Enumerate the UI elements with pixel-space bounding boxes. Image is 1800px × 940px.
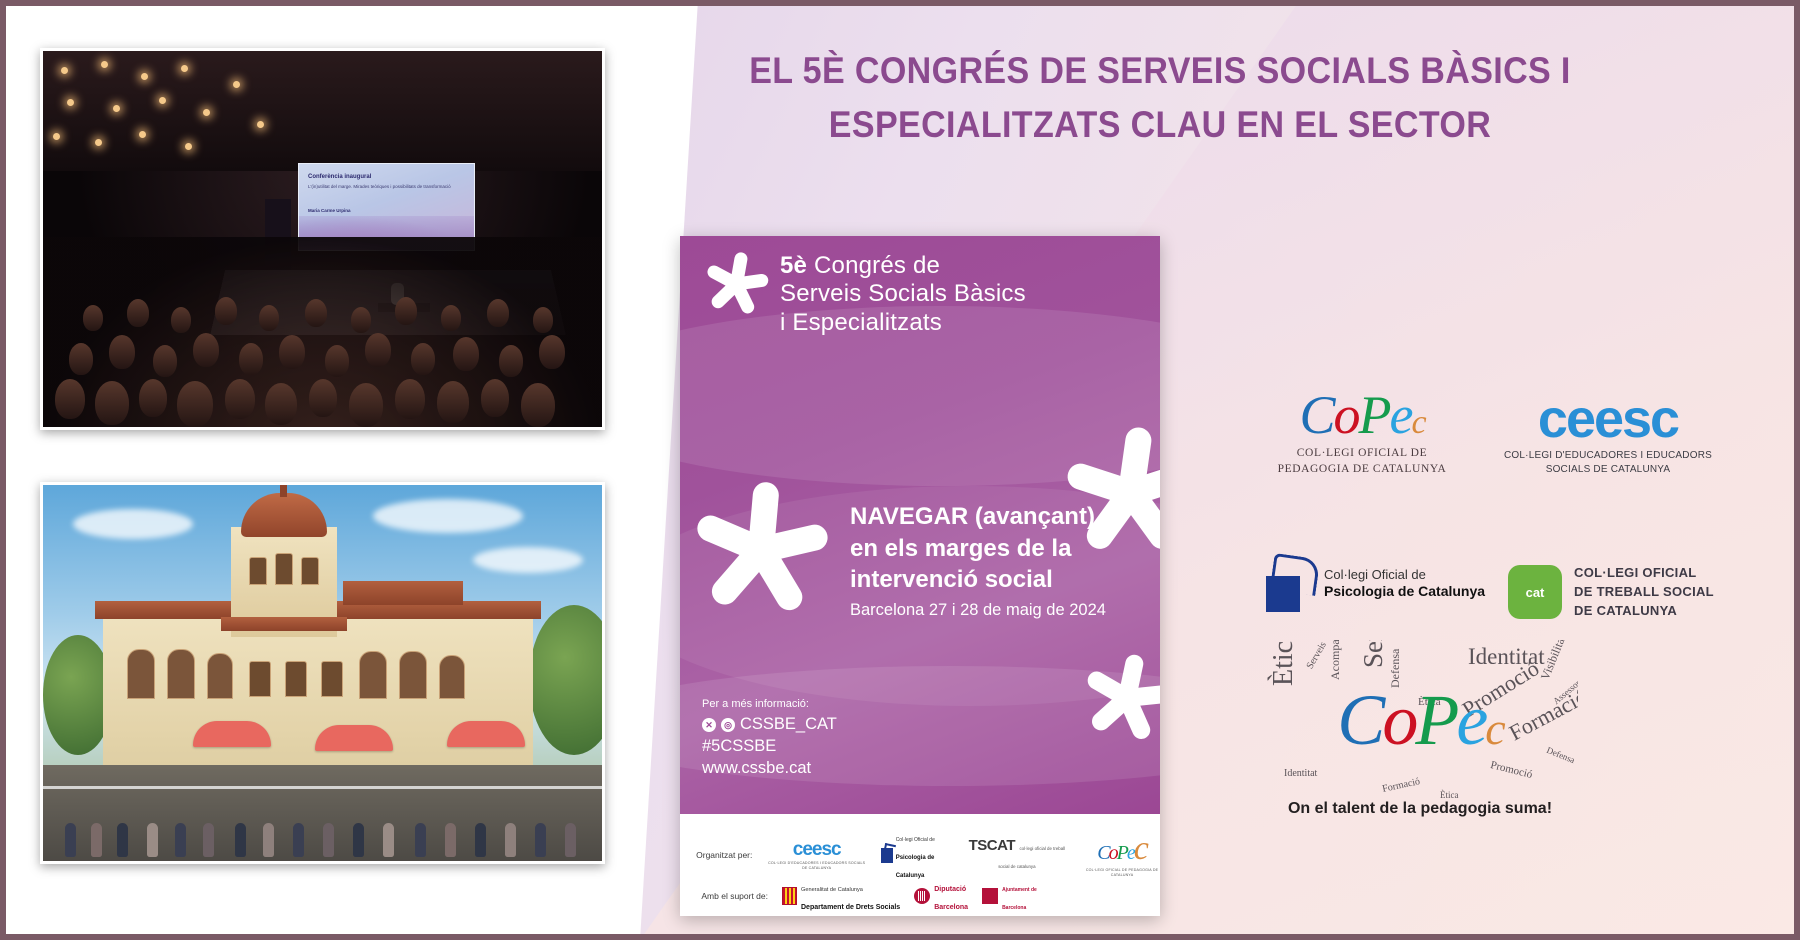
copec-mark: CoPec: [1262, 388, 1462, 442]
tscat-caption-line2: DE TREBALL SOCIAL: [1574, 583, 1714, 602]
diputacio-seal-icon: [914, 888, 930, 904]
logo-tscat-mark: TSCAT: [969, 837, 1015, 854]
slogan-line3: intervenció social: [850, 564, 1095, 596]
cloud-word: Promoció: [1489, 759, 1533, 781]
contact-handle-row[interactable]: ✕ ◎ CSSBE_CAT: [702, 714, 837, 736]
contact-label: Per a més informació:: [702, 698, 837, 710]
poster-brand-text: 5è Congrés de Serveis Socials Bàsics i E…: [780, 252, 1026, 337]
screen-title: Conferència inaugural: [308, 174, 371, 180]
tscat-mark-icon: cat: [1508, 565, 1562, 619]
logo-copc-right: Col·legi Oficial de Psicologia de Catalu…: [1262, 556, 1492, 612]
brand-line1: Congrés de: [814, 252, 940, 279]
congress-poster: 5è Congrés de Serveis Socials Bàsics i E…: [680, 236, 1160, 916]
supporters-row: Amb el suport de: Generalitat de Catalun…: [694, 878, 1037, 914]
supporters-label: Amb el suport de:: [694, 891, 768, 901]
ceiling-lights: [43, 51, 602, 171]
fence: [43, 786, 602, 789]
cloud-word: Ètica: [1440, 790, 1459, 800]
cloud-letter-c1: C: [1337, 680, 1382, 760]
cloud-letter-c2: c: [1485, 703, 1502, 754]
organizers-row: Organitzat per: ceesc COL·LEGI D'EDUCADO…: [694, 828, 1160, 882]
logo-diputacio: Diputació Barcelona: [914, 878, 968, 914]
venue-scene: [43, 485, 602, 861]
tscat-caption-line1: COL·LEGI OFICIAL: [1574, 564, 1714, 583]
copec-cloud-mark: CoPec: [1270, 684, 1570, 756]
tscat-caption-line3: DE CATALUNYA: [1574, 602, 1714, 621]
logo-ajuntament: Ajuntament de Barcelona: [982, 878, 1037, 914]
poster-date: Barcelona 27 i 28 de maig de 2024: [850, 601, 1106, 620]
audience: [43, 237, 602, 427]
auditorium-photo: Conferència inaugural L'(in)utilitat del…: [40, 48, 605, 430]
cloud-letter-e: e: [1456, 680, 1485, 760]
copec-letter-o: o: [1333, 385, 1358, 445]
logo-copec-footer: CoPec COL·LEGI OFICIAL DE PEDAGOGIA DE C…: [1084, 832, 1160, 878]
umbrella: [447, 721, 525, 747]
logo-copec-mark: CoPec: [1097, 832, 1147, 866]
poster-slogan: NAVEGAR (avançant) en els marges de la i…: [850, 501, 1095, 596]
venue-photo: [40, 482, 605, 864]
logo-ceesc-right: ceesc COL·LEGI D'EDUCADORES I EDUCADORS …: [1488, 392, 1728, 477]
logo-tscat-right: cat COL·LEGI OFICIAL DE TREBALL SOCIAL D…: [1508, 564, 1758, 621]
logo-copc: Col·legi Oficial de Psicologia de Catalu…: [881, 828, 950, 882]
cloud-letter-p: P: [1415, 680, 1456, 760]
x-icon[interactable]: ✕: [702, 718, 716, 732]
ajuntament-crest-icon: [982, 888, 998, 904]
page-title: EL 5È CONGRÉS DE SERVEIS SOCIALS BÀSICS …: [737, 44, 1583, 151]
logo-copc-line1: Col·legi Oficial de: [896, 837, 935, 843]
copec-letter-e: e: [1389, 385, 1411, 445]
contact-hashtag: #5CSSBE: [702, 736, 837, 758]
brand-asterisk-icon: [708, 254, 770, 316]
cloud-word: Ètica: [1268, 640, 1300, 686]
logo-tscat: TSCAT col·legi oficial de treball social…: [964, 837, 1071, 873]
cloud-letter-o: o: [1382, 680, 1415, 760]
brand-number: 5è: [780, 252, 807, 279]
slogan-line1: NAVEGAR (avançant): [850, 501, 1095, 533]
logo-generalitat-line2: Departament de Drets Socials: [801, 904, 900, 911]
asterisk-icon-left: [690, 486, 840, 636]
screen-speaker: Maria Carme Urpina: [308, 208, 351, 213]
brand-line2: Serveis Socials Bàsics: [780, 280, 1026, 308]
umbrella: [315, 725, 393, 751]
copc-caption-line1: Col·legi Oficial de: [1324, 567, 1485, 583]
ceesc-caption-line1: COL·LEGI D'EDUCADORES I EDUCADORS: [1488, 449, 1728, 463]
logo-copec-caption: COL·LEGI OFICIAL DE PEDAGOGIA DE CATALUN…: [1084, 868, 1160, 878]
generalitat-shield-icon: [782, 887, 797, 905]
instagram-icon[interactable]: ◎: [721, 718, 735, 732]
copc-caption-line2: Psicologia de Catalunya: [1324, 583, 1485, 601]
cloud-word: Serveis: [1305, 640, 1329, 671]
logo-ceesc: ceesc COL·LEGI D'EDUCADORES I EDUCADORS …: [766, 840, 867, 871]
slogan-line2: en els marges de la: [850, 533, 1095, 565]
logo-diputacio-line1: Diputació: [934, 886, 966, 893]
auditorium-scene: Conferència inaugural L'(in)utilitat del…: [43, 51, 602, 427]
logo-ceesc-mark: ceesc: [793, 840, 841, 859]
page-title-line1: EL 5È CONGRÉS DE SERVEIS SOCIALS BÀSICS …: [737, 44, 1583, 98]
cloud-word: Identitat: [1284, 768, 1317, 779]
page-title-line2: ESPECIALITZATS CLAU EN EL SECTOR: [737, 98, 1583, 152]
cloud-word: Formació: [1381, 776, 1421, 795]
plaza-ground: [43, 765, 602, 861]
copc-mark-icon: [881, 848, 893, 863]
tscat-caption: COL·LEGI OFICIAL DE TREBALL SOCIAL DE CA…: [1574, 564, 1714, 621]
logo-ceesc-caption: COL·LEGI D'EDUCADORES I EDUCADORS SOCIAL…: [766, 861, 867, 871]
logo-ajuntament-line1: Ajuntament de: [1002, 887, 1037, 893]
logo-copec: CoPec COL·LEGI OFICIAL DE PEDAGOGIA DE C…: [1262, 388, 1462, 478]
organizers-label: Organitzat per:: [694, 850, 752, 860]
ceesc-caption-line2: SOCIALS DE CATALUNYA: [1488, 463, 1728, 477]
poster-contact: Per a més informació: ✕ ◎ CSSBE_CAT #5CS…: [702, 698, 837, 779]
screen-subtitle: L'(in)utilitat del marge. Mirades teòriq…: [308, 184, 451, 191]
contact-website[interactable]: www.cssbe.cat: [702, 758, 837, 780]
logo-copc-line2: Psicologia de Catalunya: [896, 855, 935, 879]
copec-letter-c2: c: [1411, 404, 1424, 441]
asterisk-icon-small: [1080, 656, 1160, 756]
cloud-word: Acompanyament: [1328, 640, 1343, 680]
logo-diputacio-line2: Barcelona: [934, 904, 968, 911]
copec-word-cloud: Ètica Serveis Identitat Acompanyament Pr…: [1262, 640, 1578, 812]
slide-canvas: EL 5È CONGRÉS DE SERVEIS SOCIALS BÀSICS …: [0, 0, 1800, 940]
dome-finial: [280, 482, 287, 497]
poster-body: 5è Congrés de Serveis Socials Bàsics i E…: [680, 236, 1160, 814]
ceesc-mark: ceesc: [1488, 392, 1728, 446]
poster-footer: Organitzat per: ceesc COL·LEGI D'EDUCADO…: [680, 814, 1160, 916]
copec-caption: COL·LEGI OFICIAL DE PEDAGOGIA DE CATALUN…: [1262, 446, 1462, 478]
logo-ajuntament-line2: Barcelona: [1002, 905, 1026, 911]
copec-caption-line1: COL·LEGI OFICIAL DE: [1262, 446, 1462, 462]
copec-letter-c1: C: [1299, 385, 1333, 445]
logo-generalitat: Generalitat de Catalunya Departament de …: [782, 878, 900, 914]
cloud-word: Serveis: [1358, 640, 1389, 668]
copec-tagline: On el talent de la pedagogia suma!: [1262, 800, 1578, 818]
copc-mark-icon: [1262, 556, 1314, 612]
umbrella: [193, 721, 271, 747]
logo-generalitat-line1: Generalitat de Catalunya: [801, 887, 863, 893]
copec-letter-p: P: [1358, 385, 1389, 445]
copec-caption-line2: PEDAGOGIA DE CATALUNYA: [1262, 462, 1462, 478]
tscat-mark-text: cat: [1526, 585, 1545, 600]
brand-line3: i Especialitzats: [780, 309, 1026, 337]
ceesc-caption: COL·LEGI D'EDUCADORES I EDUCADORS SOCIAL…: [1488, 449, 1728, 477]
contact-handle: CSSBE_CAT: [740, 714, 837, 736]
